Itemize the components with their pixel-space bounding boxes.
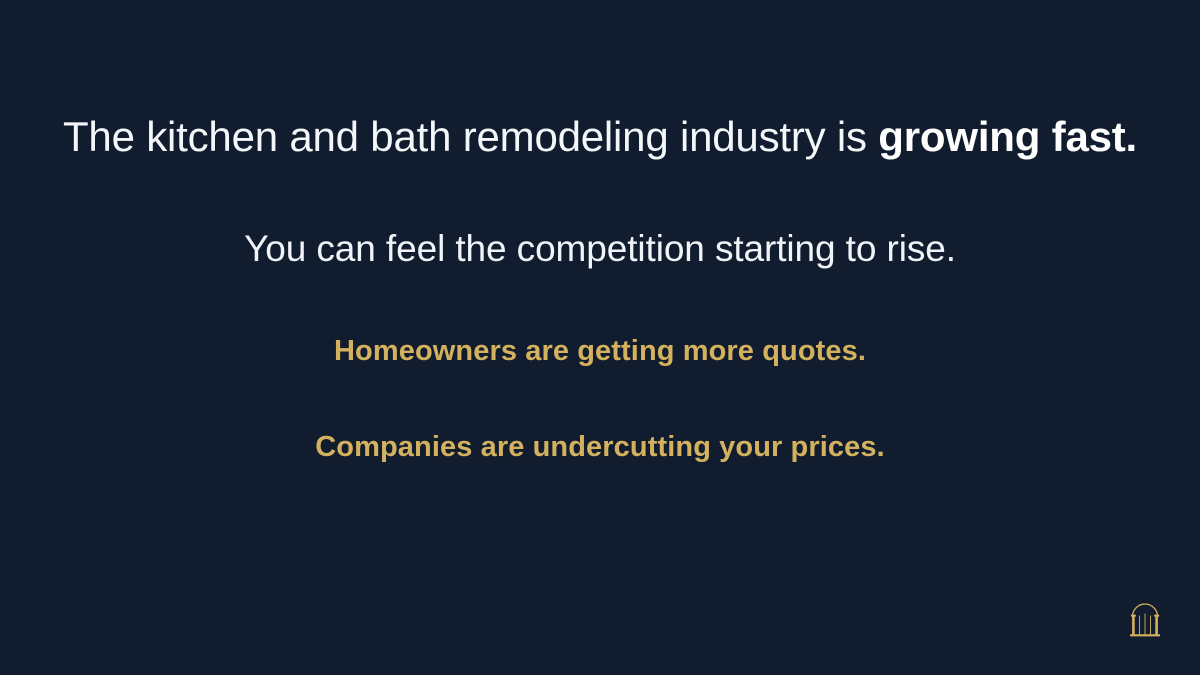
presentation-slide: The kitchen and bath remodeling industry… [0, 0, 1200, 675]
headline-regular-text: The kitchen and bath remodeling industry… [63, 113, 878, 160]
slide-subheadline: You can feel the competition starting to… [0, 226, 1200, 272]
classical-arch-pergola-logo-icon [1124, 602, 1166, 644]
slide-accent-line-2: Companies are undercutting your prices. [0, 428, 1200, 466]
slide-accent-line-1: Homeowners are getting more quotes. [0, 332, 1200, 370]
slide-headline: The kitchen and bath remodeling industry… [0, 111, 1200, 163]
headline-bold-text: growing fast. [878, 113, 1137, 160]
